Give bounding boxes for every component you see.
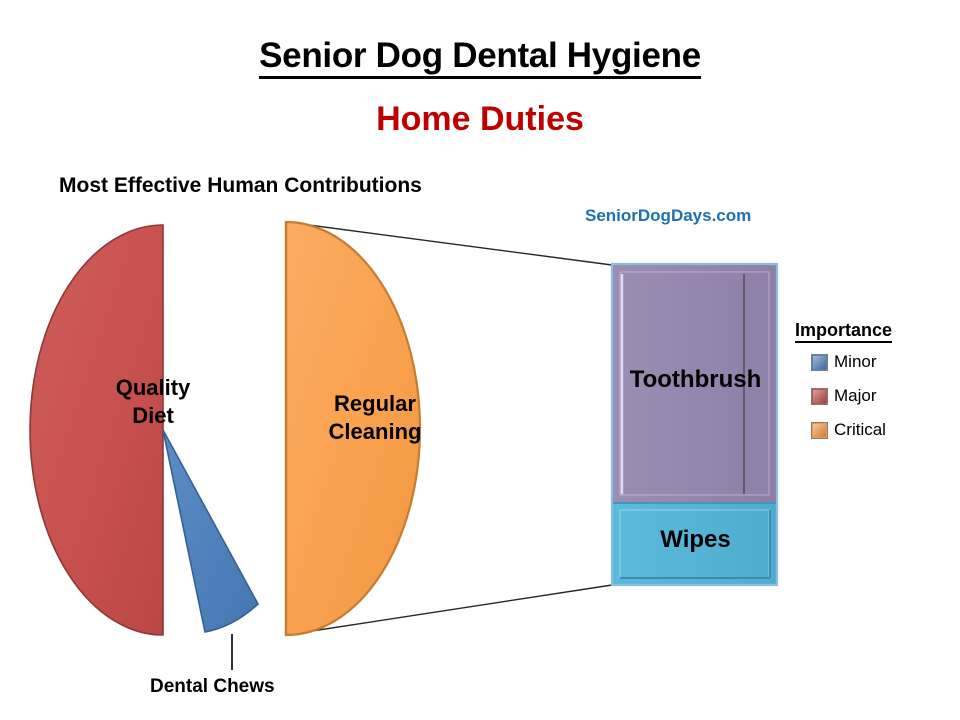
page-title: Senior Dog Dental Hygiene: [0, 36, 960, 76]
pie-slice-dental-chews[interactable]: [163, 430, 258, 632]
legend-item-minor[interactable]: Minor: [811, 353, 945, 371]
legend-label-critical: Critical: [834, 420, 886, 440]
pie-label-dental-chews: Dental Chews: [150, 676, 275, 698]
chart-subtitle: Most Effective Human Contributions: [59, 174, 422, 198]
legend-title: Importance: [795, 320, 892, 343]
chart-canvas: Senior Dog Dental Hygiene Home Duties Mo…: [0, 0, 960, 720]
legend-swatch-critical: [811, 422, 828, 439]
legend-label-minor: Minor: [834, 352, 877, 372]
legend-item-major[interactable]: Major: [811, 387, 945, 405]
site-url-watermark[interactable]: SeniorDogDays.com: [585, 206, 751, 226]
legend-swatch-major: [811, 388, 828, 405]
page-title-text: Senior Dog Dental Hygiene: [259, 36, 701, 79]
legend: Importance Minor Major Critical: [795, 320, 945, 455]
legend-swatch-minor: [811, 354, 828, 371]
page-subtitle: Home Duties: [0, 100, 960, 139]
pie-slice-quality-diet[interactable]: [30, 225, 163, 635]
legend-item-critical[interactable]: Critical: [811, 421, 945, 439]
pie-group: [30, 222, 420, 670]
bar-label-toothbrush: Toothbrush: [608, 366, 783, 394]
bar-label-wipes: Wipes: [608, 526, 783, 554]
legend-label-major: Major: [834, 386, 877, 406]
pie-slice-regular-cleaning[interactable]: [286, 222, 420, 635]
